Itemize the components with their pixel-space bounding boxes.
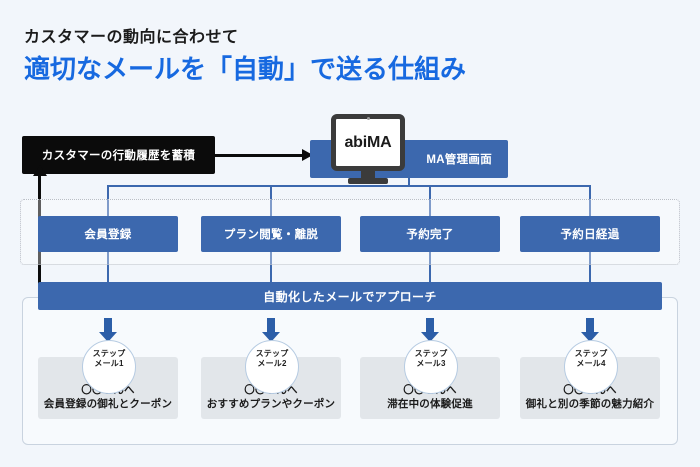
arrow-down-icon-3 xyxy=(426,318,434,334)
slide-canvas: カスタマーの動向に合わせて 適切なメールを「自動」で送る仕組み カスタマーの行動… xyxy=(0,0,700,467)
step-card-line2-1: 会員登録の御礼とクーポン xyxy=(38,396,178,411)
step-badge-line2-4: メール4 xyxy=(565,359,617,369)
source-data-box: カスタマーの行動履歴を蓄積 xyxy=(22,136,215,174)
step-card-line2-4: 御礼と別の季節の魅力紹介 xyxy=(520,396,660,411)
step-badge-line1-3: ステップ xyxy=(405,349,457,359)
step-badge-line2-2: メール2 xyxy=(246,359,298,369)
step-badge-1: ステップ メール1 xyxy=(82,340,136,394)
desktop-monitor-icon: abiMA xyxy=(331,114,405,186)
step-badge-2: ステップ メール2 xyxy=(245,340,299,394)
trigger-box-1[interactable]: 会員登録 xyxy=(38,216,178,252)
trigger-box-2[interactable]: プラン閲覧・離脱 xyxy=(201,216,341,252)
step-card-line2-3: 滞在中の体験促進 xyxy=(360,396,500,411)
product-name-label: abiMA xyxy=(344,134,391,152)
step-card-line2-2: おすすめプランやクーポン xyxy=(201,396,341,411)
heading-main: 適切なメールを「自動」で送る仕組み xyxy=(24,53,664,86)
automation-banner-label: 自動化したメールでアプローチ xyxy=(263,288,437,305)
step-badge-line1-1: ステップ xyxy=(83,349,135,359)
arrow-down-icon-1 xyxy=(104,318,112,334)
trigger-box-4[interactable]: 予約日経過 xyxy=(520,216,660,252)
monitor-base xyxy=(348,178,388,184)
arrow-down-icon-2 xyxy=(267,318,275,334)
arrow-down-icon-4 xyxy=(586,318,594,334)
monitor-screen: abiMA xyxy=(331,114,405,171)
ma-system-label: MA管理画面 xyxy=(426,151,492,167)
automation-banner: 自動化したメールでアプローチ xyxy=(38,282,662,310)
trigger-label-4: 予約日経過 xyxy=(561,226,620,242)
trigger-label-3: 予約完了 xyxy=(406,226,453,242)
step-badge-line2-1: メール1 xyxy=(83,359,135,369)
page-title: カスタマーの動向に合わせて 適切なメールを「自動」で送る仕組み xyxy=(24,28,664,86)
trigger-box-3[interactable]: 予約完了 xyxy=(360,216,500,252)
step-badge-line1-4: ステップ xyxy=(565,349,617,359)
step-badge-3: ステップ メール3 xyxy=(404,340,458,394)
step-badge-line1-2: ステップ xyxy=(246,349,298,359)
trigger-label-2: プラン閲覧・離脱 xyxy=(224,226,318,242)
step-badge-4: ステップ メール4 xyxy=(564,340,618,394)
arrow-source-to-system xyxy=(215,154,303,157)
source-data-label: カスタマーの行動履歴を蓄積 xyxy=(42,147,195,163)
trigger-label-1: 会員登録 xyxy=(84,226,131,242)
heading-subtitle: カスタマーの動向に合わせて xyxy=(24,28,664,47)
step-badge-line2-3: メール3 xyxy=(405,359,457,369)
webcam-dot-icon xyxy=(367,117,370,120)
